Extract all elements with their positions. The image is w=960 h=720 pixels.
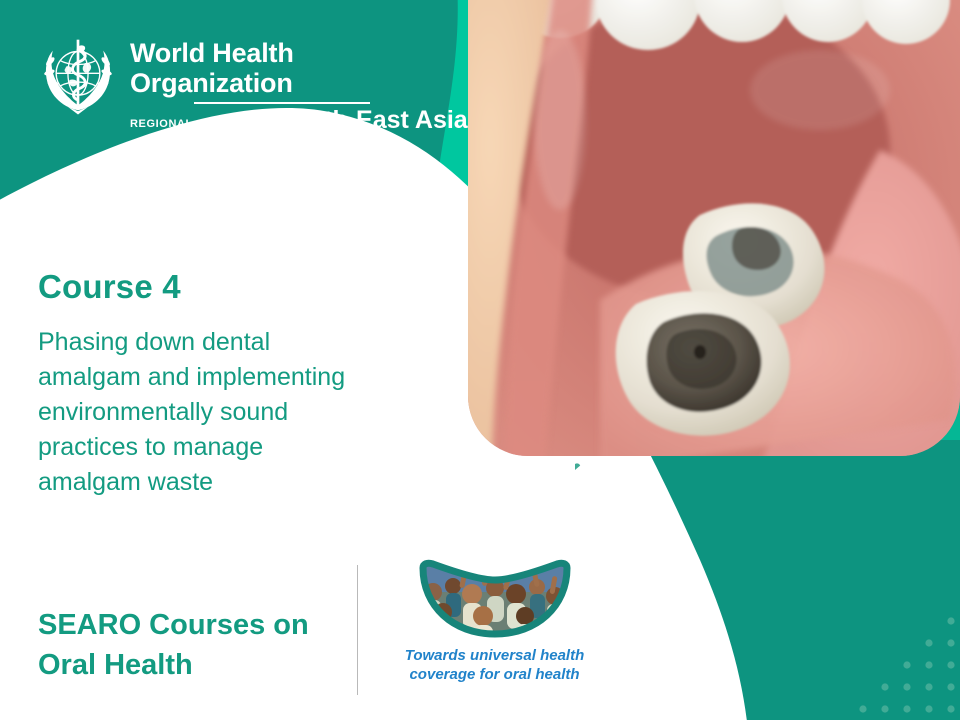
series-title: SEARO Courses on Oral Health xyxy=(38,605,348,685)
tagline-line1: Towards universal health xyxy=(382,646,607,665)
course-description: Phasing down dental amalgam and implemen… xyxy=(38,325,368,500)
who-org-line2: Organization xyxy=(130,68,468,98)
who-emblem-icon xyxy=(36,32,120,128)
smiling-mouth-icon xyxy=(415,558,575,640)
who-regional-prefix: REGIONAL OFFICE FOR xyxy=(130,118,269,134)
who-divider-rule xyxy=(194,102,468,104)
hero-photo-mouth-amalgam xyxy=(440,0,960,470)
oral-health-logo: Towards universal health coverage for or… xyxy=(382,558,607,684)
slide-canvas: World Health Organization REGIONAL OFFIC… xyxy=(0,0,960,720)
who-wordmark: World Health Organization REGIONAL OFFIC… xyxy=(130,32,468,134)
oral-health-tagline: Towards universal health coverage for or… xyxy=(382,646,607,684)
who-region-name: South-East Asia xyxy=(277,107,468,134)
who-org-line1: World Health xyxy=(130,38,468,68)
tagline-line2: coverage for oral health xyxy=(382,665,607,684)
vertical-divider xyxy=(357,565,358,695)
who-logo: World Health Organization REGIONAL OFFIC… xyxy=(36,32,468,134)
children-photo xyxy=(415,558,575,640)
course-label: Course 4 xyxy=(38,268,181,306)
